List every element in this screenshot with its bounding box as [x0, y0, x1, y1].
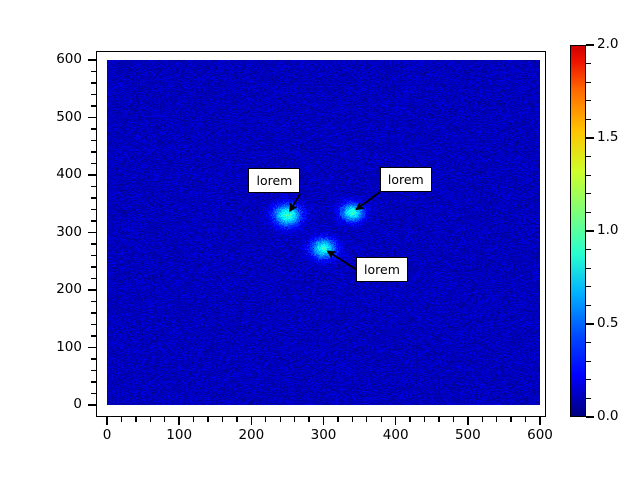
y-axis-minor-tick — [91, 278, 96, 279]
y-axis-minor-tick — [91, 163, 96, 164]
y-axis-tick-label: 300 — [56, 226, 82, 240]
colorbar-minor-tick — [586, 100, 591, 101]
y-axis-minor-tick — [91, 94, 96, 95]
x-axis-major-tick — [467, 417, 468, 425]
x-axis-minor-tick — [366, 417, 367, 422]
colorbar-minor-tick — [586, 398, 591, 399]
figure-canvas: 01002003004005006000100200300400500600 0… — [0, 0, 640, 480]
colorbar-tick-label: 1.5 — [597, 131, 618, 145]
x-axis-minor-tick — [496, 417, 497, 422]
x-axis-minor-tick — [438, 417, 439, 422]
y-axis-minor-tick — [91, 128, 96, 129]
y-axis-major-tick — [88, 289, 96, 290]
y-axis-minor-tick — [91, 71, 96, 72]
colorbar-minor-tick — [586, 361, 591, 362]
y-axis-minor-tick — [91, 82, 96, 83]
colorbar-gradient — [570, 45, 586, 417]
y-axis-major-tick — [88, 117, 96, 118]
y-axis-tick-label: 200 — [56, 283, 82, 297]
y-axis-major-tick — [88, 404, 96, 405]
colorbar-minor-tick — [586, 268, 591, 269]
x-axis-minor-tick — [121, 417, 122, 422]
y-axis-minor-tick — [91, 335, 96, 336]
x-axis-minor-tick — [236, 417, 237, 422]
colorbar-minor-tick — [586, 286, 591, 287]
colorbar-minor-tick — [586, 305, 591, 306]
y-axis-minor-tick — [91, 266, 96, 267]
y-axis-minor-tick — [91, 301, 96, 302]
y-axis-minor-tick — [91, 243, 96, 244]
x-axis-minor-tick — [294, 417, 295, 422]
y-axis-minor-tick — [91, 186, 96, 187]
y-axis-minor-tick — [91, 324, 96, 325]
x-axis-minor-tick — [193, 417, 194, 422]
heatmap-image — [107, 60, 540, 405]
colorbar-minor-tick — [586, 82, 591, 83]
x-axis-minor-tick — [482, 417, 483, 422]
y-axis-minor-tick — [91, 358, 96, 359]
annotation-label-1[interactable]: lorem — [248, 168, 300, 193]
x-axis-tick-label: 200 — [238, 429, 264, 443]
y-axis-tick-label: 600 — [56, 53, 82, 67]
x-axis-tick-label: 100 — [166, 429, 192, 443]
y-axis-minor-tick — [91, 197, 96, 198]
annotation-label-2[interactable]: lorem — [380, 167, 432, 192]
x-axis-minor-tick — [135, 417, 136, 422]
x-axis-tick-label: 400 — [383, 429, 409, 443]
x-axis-minor-tick — [164, 417, 165, 422]
colorbar-major-tick — [586, 44, 594, 45]
y-axis-tick-label: 400 — [56, 168, 82, 182]
x-axis-minor-tick — [222, 417, 223, 422]
x-axis-tick-label: 500 — [455, 429, 481, 443]
x-axis-major-tick — [106, 417, 107, 425]
colorbar-minor-tick — [586, 175, 591, 176]
y-axis-tick-label: 100 — [56, 341, 82, 355]
colorbar-minor-tick — [586, 379, 591, 380]
colorbar-tick-label: 0.5 — [597, 317, 618, 331]
y-axis-minor-tick — [91, 393, 96, 394]
x-axis-tick-label: 0 — [103, 429, 112, 443]
x-axis-minor-tick — [308, 417, 309, 422]
y-axis-major-tick — [88, 232, 96, 233]
x-axis-major-tick — [539, 417, 540, 425]
colorbar-tick-label: 2.0 — [597, 38, 618, 52]
colorbar-minor-tick — [586, 63, 591, 64]
y-axis-minor-tick — [91, 312, 96, 313]
x-axis-tick-label: 600 — [527, 429, 553, 443]
x-axis-major-tick — [251, 417, 252, 425]
colorbar-tick-label: 0.0 — [597, 410, 618, 424]
y-axis-minor-tick — [91, 151, 96, 152]
colorbar-minor-tick — [586, 342, 591, 343]
x-axis-minor-tick — [265, 417, 266, 422]
annotation-label-3[interactable]: lorem — [356, 257, 408, 282]
x-axis-minor-tick — [453, 417, 454, 422]
colorbar-minor-tick — [586, 212, 591, 213]
y-axis-tick-label: 500 — [56, 111, 82, 125]
y-axis-minor-tick — [91, 220, 96, 221]
y-axis-major-tick — [88, 174, 96, 175]
x-axis-minor-tick — [337, 417, 338, 422]
y-axis-major-tick — [88, 347, 96, 348]
x-axis-minor-tick — [207, 417, 208, 422]
x-axis-minor-tick — [381, 417, 382, 422]
colorbar-minor-tick — [586, 249, 591, 250]
y-axis-major-tick — [88, 59, 96, 60]
colorbar-tick-label: 1.0 — [597, 224, 618, 238]
x-axis-major-tick — [323, 417, 324, 425]
x-axis-major-tick — [178, 417, 179, 425]
y-axis-minor-tick — [91, 209, 96, 210]
y-axis-tick-label: 0 — [73, 398, 82, 412]
y-axis-minor-tick — [91, 381, 96, 382]
x-axis-minor-tick — [150, 417, 151, 422]
x-axis-minor-tick — [352, 417, 353, 422]
colorbar-minor-tick — [586, 156, 591, 157]
colorbar-major-tick — [586, 137, 594, 138]
y-axis-minor-tick — [91, 255, 96, 256]
y-axis-minor-tick — [91, 140, 96, 141]
x-axis-tick-label: 300 — [311, 429, 337, 443]
x-axis-major-tick — [395, 417, 396, 425]
x-axis-minor-tick — [424, 417, 425, 422]
x-axis-minor-tick — [510, 417, 511, 422]
colorbar-major-tick — [586, 323, 594, 324]
x-axis-minor-tick — [280, 417, 281, 422]
y-axis-minor-tick — [91, 105, 96, 106]
colorbar-major-tick — [586, 230, 594, 231]
x-axis-minor-tick — [409, 417, 410, 422]
colorbar-major-tick — [586, 416, 594, 417]
colorbar-minor-tick — [586, 193, 591, 194]
y-axis-minor-tick — [91, 370, 96, 371]
colorbar-minor-tick — [586, 119, 591, 120]
x-axis-minor-tick — [525, 417, 526, 422]
